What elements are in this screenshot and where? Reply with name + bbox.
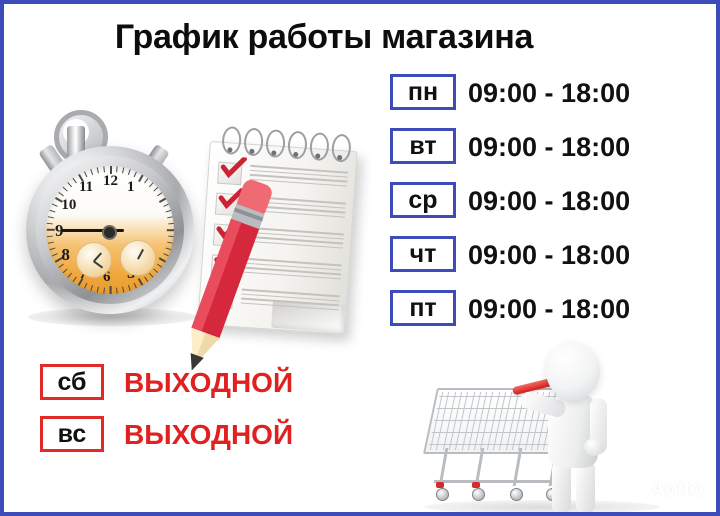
day-hours: 09:00 - 18:00 (468, 184, 630, 218)
stopwatch-subdial-right (120, 240, 156, 276)
stopwatch-tick (144, 277, 148, 282)
stopwatch-number-8: 8 (61, 245, 70, 265)
day-badge-чт: чт (390, 236, 456, 272)
cart-base-rail (434, 480, 561, 483)
day-off-label: ВЫХОДНОЙ (124, 365, 293, 400)
stopwatch-tick (84, 283, 87, 289)
stopwatch-tick (52, 253, 58, 256)
schedule-row-пт: пт09:00 - 18:00 (390, 290, 680, 344)
stopwatch-tick (122, 167, 124, 173)
stopwatch-tick (153, 187, 158, 192)
day-badge-пн: пн (390, 74, 456, 110)
stopwatch-tick (90, 169, 93, 175)
stopwatch-tick (47, 236, 53, 238)
stopwatch-tick (67, 273, 72, 278)
stopwatch-tick (134, 283, 137, 289)
weekday-schedule-list: пн09:00 - 18:00вт09:00 - 18:00ср09:00 - … (390, 74, 680, 344)
schedule-row-ср: ср09:00 - 18:00 (390, 182, 680, 236)
stopwatch-tick (128, 169, 131, 175)
figure-leg (552, 460, 571, 514)
stopwatch-tick (128, 285, 131, 291)
stopwatch-tick (48, 216, 54, 218)
stopwatch-tick (138, 174, 143, 182)
stopwatch-tick (149, 182, 154, 187)
stopwatch-tick (58, 264, 63, 268)
day-badge-вт: вт (390, 128, 456, 164)
stopwatch-tick (97, 287, 99, 293)
stopwatch-tick (110, 286, 112, 294)
schedule-row-вс: всВЫХОДНОЙ (40, 416, 360, 468)
shopper-floor-shadow (424, 500, 660, 514)
stopwatch-tick (47, 223, 53, 225)
day-label: пт (409, 296, 436, 321)
stopwatch-tick (157, 192, 162, 196)
day-badge-вс: вс (40, 416, 104, 452)
schedule-row-вт: вт09:00 - 18:00 (390, 128, 680, 182)
day-off-label: ВЫХОДНОЙ (124, 417, 293, 452)
notepad-spiral-binding (211, 125, 361, 135)
stopwatch-tick (103, 288, 105, 294)
stopwatch-subdial-left (76, 242, 112, 278)
stopwatch-tick (157, 264, 162, 268)
stopwatch-tick (116, 288, 118, 294)
day-hours: 09:00 - 18:00 (468, 238, 630, 272)
day-hours: 09:00 - 18:00 (468, 76, 630, 110)
stopwatch-tick (58, 192, 63, 196)
day-badge-ср: ср (390, 182, 456, 218)
day-label: вт (409, 134, 436, 159)
stopwatch-tick (153, 268, 158, 273)
stopwatch-tick (48, 242, 54, 244)
stopwatch-center-pin (102, 225, 117, 240)
schedule-row-пн: пн09:00 - 18:00 (390, 74, 680, 128)
day-label: ср (408, 188, 437, 213)
schedule-poster: График работы магазина 156789101112 (0, 0, 720, 516)
stopwatch-tick (134, 171, 137, 177)
day-label: чт (410, 242, 437, 267)
schedule-row-чт: чт09:00 - 18:00 (390, 236, 680, 290)
stopwatch-tick (63, 268, 68, 273)
stopwatch-tick (63, 187, 68, 192)
stopwatch-number-12: 12 (103, 173, 118, 190)
stopwatch-tick (97, 167, 99, 173)
figure-hand (584, 438, 604, 456)
stopwatch-tick (90, 285, 93, 291)
stopwatch-number-10: 10 (61, 197, 76, 214)
day-badge-сб: сб (40, 364, 104, 400)
stopwatch-tick (84, 171, 87, 177)
page-title: График работы магазина (4, 18, 644, 57)
cart-wheel (510, 488, 523, 501)
cart-wheel (436, 488, 449, 501)
stopwatch-number-11: 11 (79, 179, 93, 196)
stopwatch-tick (72, 178, 76, 183)
figure-leg (576, 460, 595, 514)
schedule-row-сб: сбВЫХОДНОЙ (40, 364, 360, 416)
stopwatch-number-1: 1 (127, 179, 135, 196)
day-label: сб (57, 370, 86, 395)
day-hours: 09:00 - 18:00 (468, 130, 630, 164)
stopwatch-tick (52, 204, 58, 207)
avito-logo-icon (624, 479, 646, 499)
stopwatch-tick (149, 273, 154, 278)
day-label: пн (408, 80, 438, 105)
avito-watermark: Avito (624, 476, 704, 502)
stopwatch-tick (116, 166, 118, 172)
stopwatch-tick (103, 166, 105, 172)
day-label: вс (58, 422, 87, 447)
stopwatch-tick (72, 277, 76, 282)
figure-head (546, 342, 600, 400)
stopwatch-tick (144, 178, 148, 183)
stopwatch-tick (49, 210, 55, 213)
weekend-schedule-list: сбВЫХОДНОЙвсВЫХОДНОЙ (40, 364, 360, 468)
stopwatch-tick (122, 287, 124, 293)
day-hours: 09:00 - 18:00 (468, 292, 630, 326)
day-badge-пт: пт (390, 290, 456, 326)
stopwatch-tick (67, 182, 72, 187)
stopwatch-tick (49, 247, 55, 250)
stopwatch-tick (47, 229, 55, 231)
stopwatch-tick (110, 166, 112, 174)
avito-watermark-text: Avito (650, 478, 704, 500)
cart-wheel (472, 488, 485, 501)
stopwatch-tick (138, 278, 143, 286)
red-pencil-illustration (164, 164, 284, 394)
